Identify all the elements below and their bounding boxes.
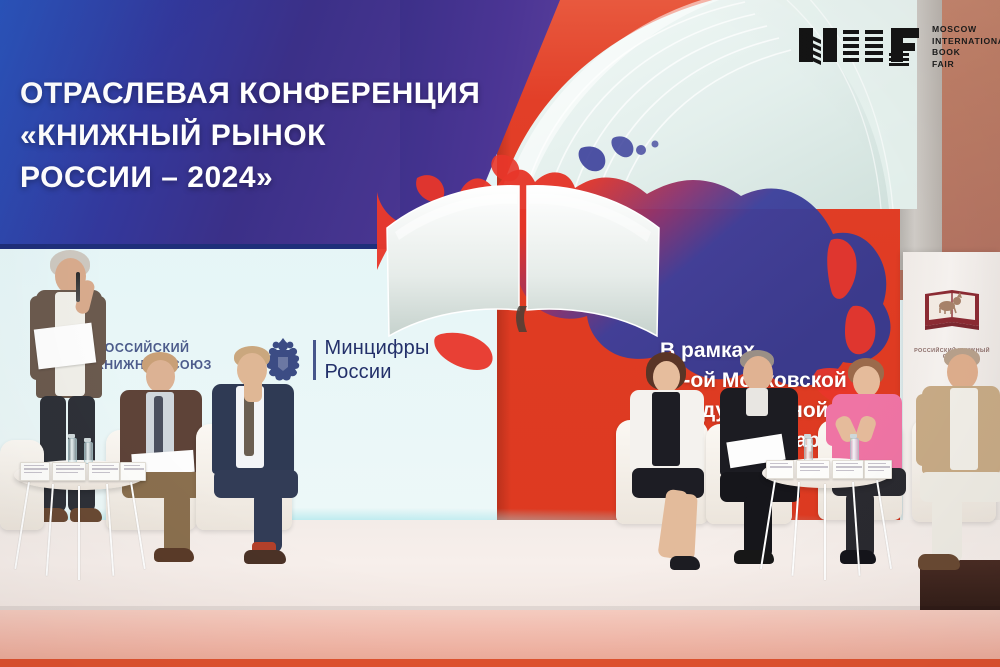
side-table-left: [14, 460, 146, 570]
mincifry-line-1: Минцифры: [325, 336, 430, 360]
water-bottle: [850, 438, 859, 462]
conference-video-frame: ОТРАСЛЕВАЯ КОНФЕРЕНЦИЯ «КНИЖНЫЙ РЫНОК РО…: [0, 0, 1000, 667]
nameplate: [832, 460, 864, 479]
mibf-mark-icon: [797, 22, 923, 68]
nameplate: [88, 462, 120, 481]
handheld-microphone: [76, 272, 80, 302]
mibf-wordmark: MOSCOW INTERNATIONAL BOOK FAIR: [932, 22, 1000, 70]
nameplate: [20, 462, 50, 481]
nameplate: [766, 460, 794, 479]
mincifry-wordmark: Минцифры России: [325, 336, 430, 384]
speaker-3: [206, 346, 310, 562]
mibf-word-4: FAIR: [932, 59, 1000, 71]
title-line-1: ОТРАСЛЕВАЯ КОНФЕРЕНЦИЯ: [20, 73, 500, 115]
nameplate: [796, 460, 830, 479]
speaker-7: [910, 348, 1000, 578]
speaker-notes-paper: [34, 323, 96, 370]
book-union-emblem-icon: [921, 280, 983, 336]
mibf-word-2: INTERNATIONAL: [932, 36, 1000, 48]
side-table-right: [762, 458, 892, 570]
mibf-word-3: BOOK: [932, 47, 1000, 59]
mibf-logo: MOSCOW INTERNATIONAL BOOK FAIR: [797, 22, 1000, 70]
mincifry-line-2: России: [325, 360, 430, 384]
water-bottle: [84, 442, 93, 464]
nameplate: [120, 462, 146, 481]
mincifry-divider: [313, 340, 316, 380]
stage-bottom-strip: [0, 659, 1000, 667]
water-bottle: [804, 438, 813, 462]
mibf-word-1: MOSCOW: [932, 24, 1000, 36]
nameplate: [864, 460, 892, 479]
water-bottle: [68, 438, 77, 464]
nameplate: [52, 462, 86, 481]
